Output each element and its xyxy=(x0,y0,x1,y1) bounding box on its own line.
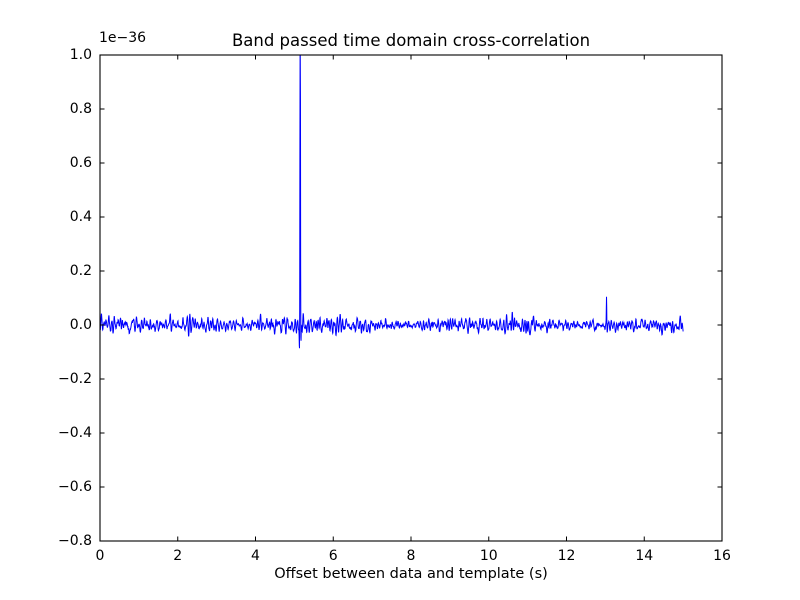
y-tick-label: 0.2 xyxy=(42,263,92,279)
x-tick-label: 8 xyxy=(407,548,416,564)
x-tick-label: 10 xyxy=(480,548,498,564)
x-tick-label: 14 xyxy=(635,548,653,564)
y-tick-label: 0.8 xyxy=(42,101,92,117)
y-tick-label: −0.8 xyxy=(42,533,92,549)
chart-title: Band passed time domain cross-correlatio… xyxy=(100,31,722,50)
y-tick-label: −0.6 xyxy=(42,479,92,495)
x-tick-label: 16 xyxy=(713,548,731,564)
x-tick-label: 2 xyxy=(173,548,182,564)
x-tick-label: 0 xyxy=(96,548,105,564)
y-tick-label: 0.6 xyxy=(42,155,92,171)
y-tick-label: 0.0 xyxy=(42,317,92,333)
x-axis-label: Offset between data and template (s) xyxy=(100,566,722,582)
figure-canvas: 1e−36 Band passed time domain cross-corr… xyxy=(0,0,800,600)
y-tick-label: 0.4 xyxy=(42,209,92,225)
cross-correlation-plot xyxy=(0,0,800,600)
x-tick-label: 4 xyxy=(251,548,260,564)
x-tick-label: 6 xyxy=(329,548,338,564)
y-tick-label: −0.4 xyxy=(42,425,92,441)
y-tick-label: −0.2 xyxy=(42,371,92,387)
axes-background xyxy=(100,55,722,541)
x-tick-label: 12 xyxy=(558,548,576,564)
y-tick-label: 1.0 xyxy=(42,47,92,63)
